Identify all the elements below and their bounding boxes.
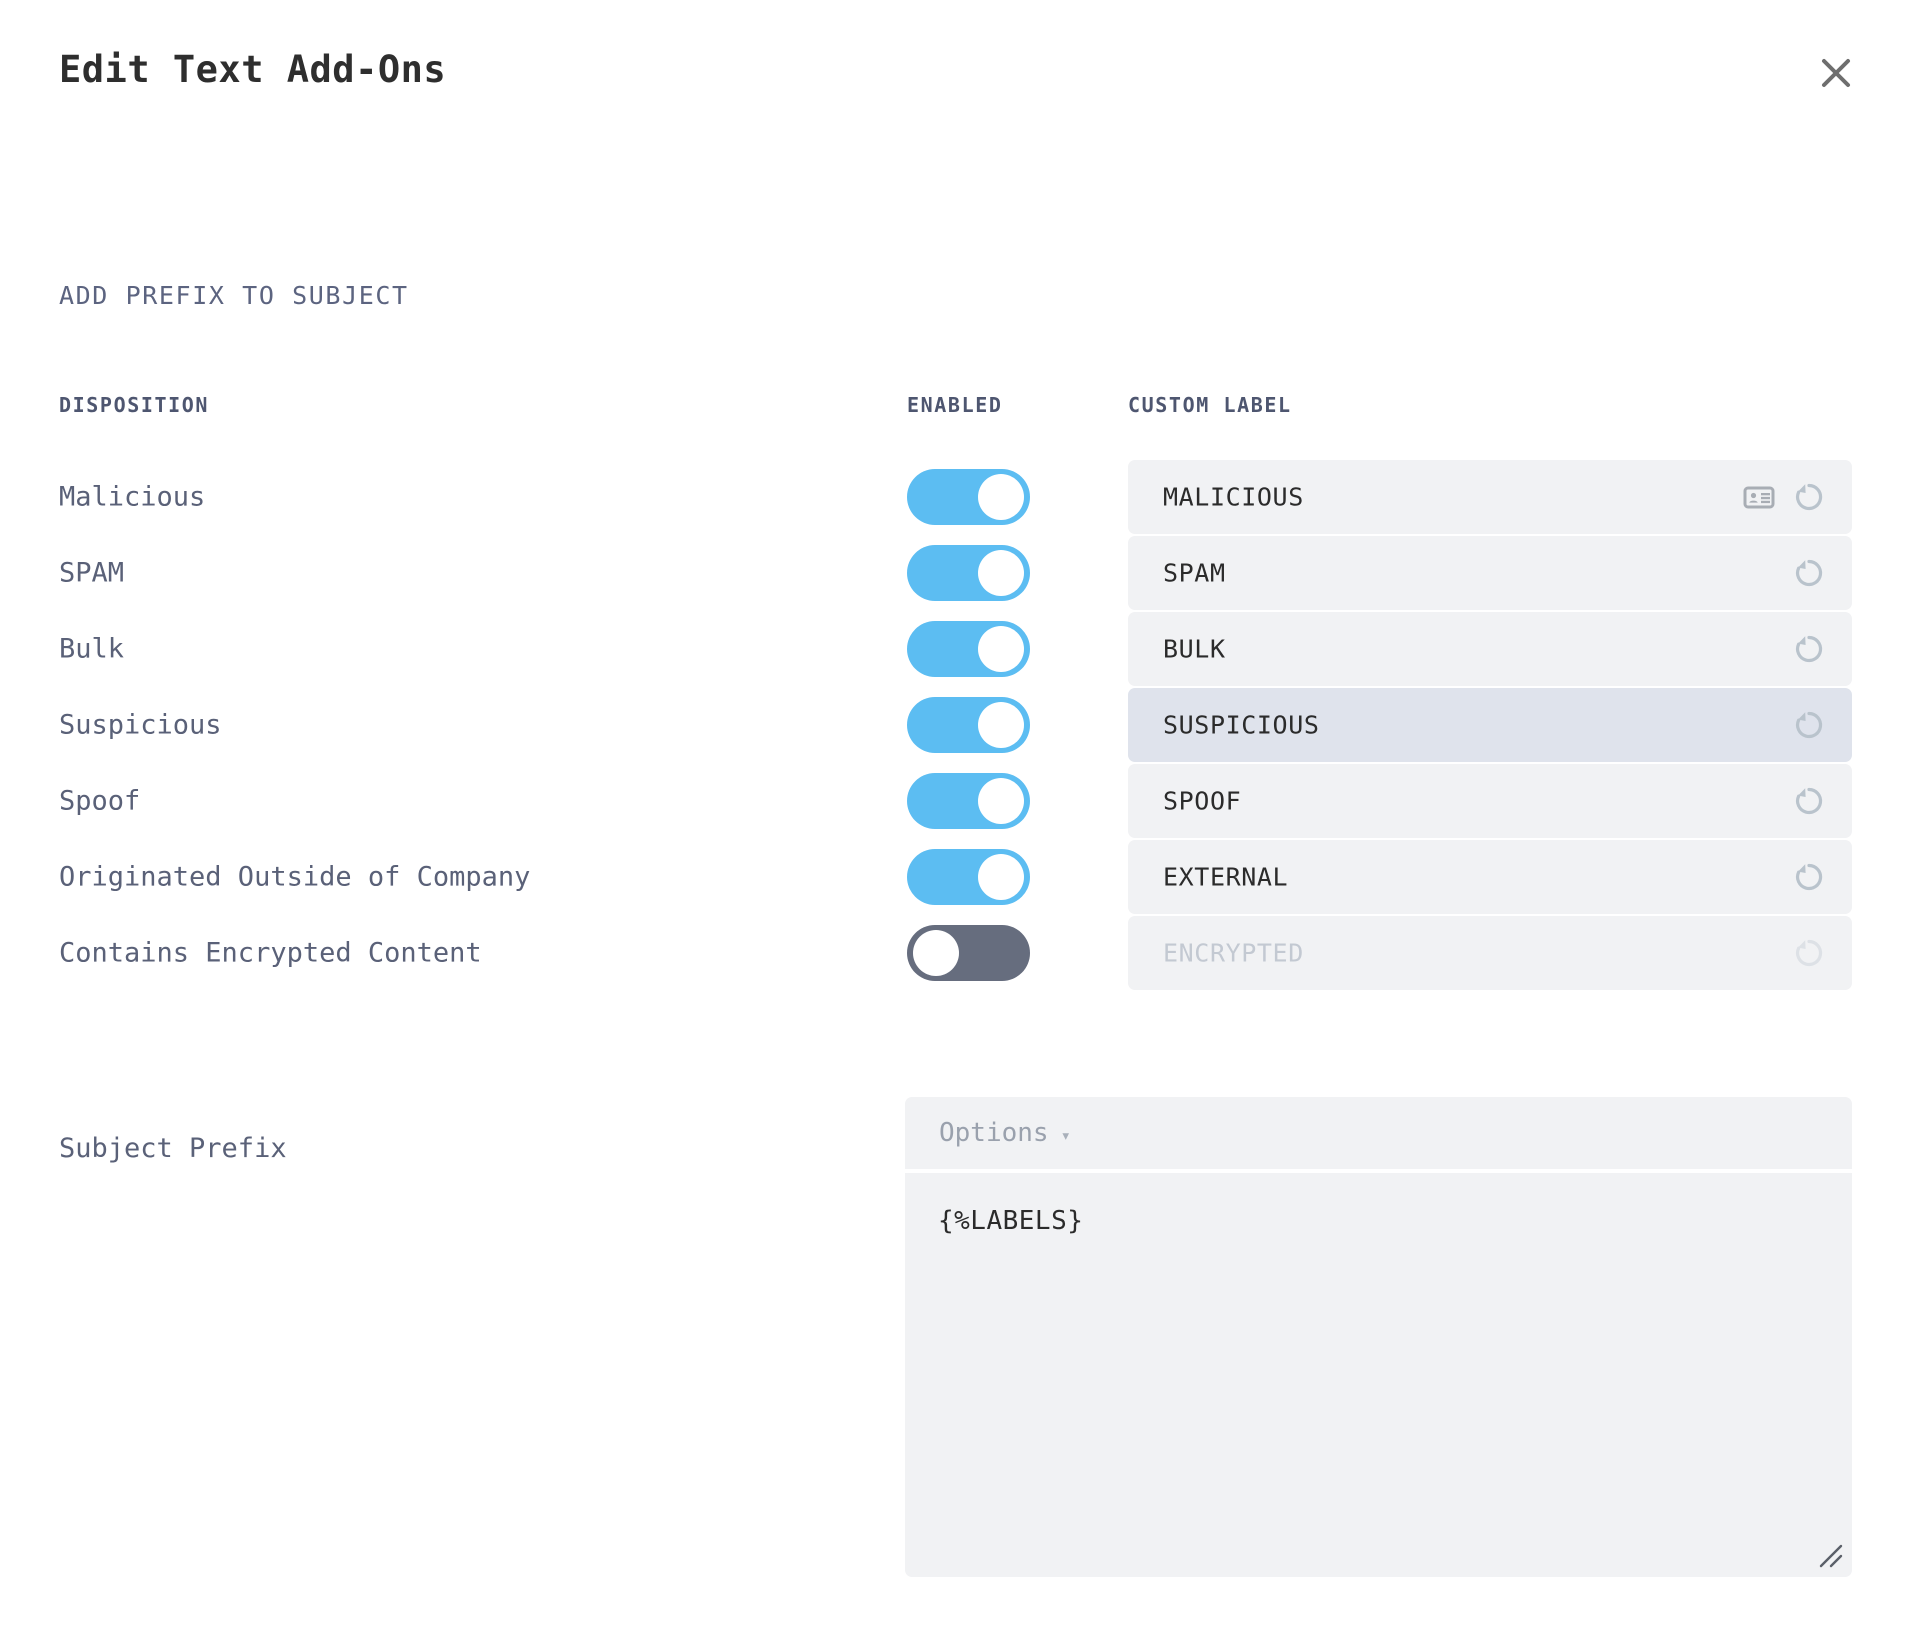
reset-icon[interactable] [1790,554,1828,592]
subject-prefix-textarea-value: {%LABELS} [938,1206,1083,1236]
table-row: Contains Encrypted ContentENCRYPTED [0,907,1908,999]
enabled-toggle[interactable] [907,925,1030,981]
disposition-label: Malicious [59,482,205,513]
disposition-label: Originated Outside of Company [59,862,530,893]
custom-label-input[interactable]: BULK [1128,612,1852,686]
custom-label-value: ENCRYPTED [1163,939,1304,968]
reset-icon[interactable] [1790,630,1828,668]
custom-label-input[interactable]: ENCRYPTED [1128,916,1852,990]
reset-icon[interactable] [1790,858,1828,896]
reset-icon[interactable] [1790,934,1828,972]
custom-label-input[interactable]: EXTERNAL [1128,840,1852,914]
reset-icon[interactable] [1790,706,1828,744]
enabled-toggle[interactable] [907,697,1030,753]
field-icon-group [1790,934,1828,972]
reset-icon[interactable] [1790,478,1828,516]
toggle-knob [978,626,1024,672]
custom-label-value: SPOOF [1163,787,1241,816]
subject-prefix-toolbar: Options ▾ [905,1097,1852,1169]
disposition-label: Spoof [59,786,140,817]
field-icon-group [1790,630,1828,668]
field-icon-group [1742,478,1828,516]
custom-label-value: SUSPICIOUS [1163,711,1320,740]
enabled-toggle[interactable] [907,849,1030,905]
options-dropdown[interactable]: Options ▾ [939,1118,1071,1148]
disposition-label: Bulk [59,634,124,665]
id-card-icon[interactable] [1742,480,1776,514]
toggle-knob [978,550,1024,596]
resize-grip-icon[interactable] [1818,1543,1844,1569]
custom-label-input[interactable]: SUSPICIOUS [1128,688,1852,762]
enabled-toggle[interactable] [907,469,1030,525]
subject-prefix-label: Subject Prefix [59,1133,287,1164]
disposition-label: SPAM [59,558,124,589]
disposition-label: Contains Encrypted Content [59,938,482,969]
field-icon-group [1790,782,1828,820]
toggle-knob [913,930,959,976]
field-icon-group [1790,706,1828,744]
field-icon-group [1790,858,1828,896]
custom-label-value: SPAM [1163,559,1226,588]
disposition-label: Suspicious [59,710,222,741]
enabled-toggle[interactable] [907,621,1030,677]
field-icon-group [1790,554,1828,592]
toggle-knob [978,702,1024,748]
chevron-down-icon: ▾ [1061,1128,1071,1145]
options-dropdown-label: Options [939,1118,1049,1148]
subject-prefix-textarea[interactable]: {%LABELS} [905,1173,1852,1577]
custom-label-input[interactable]: SPOOF [1128,764,1852,838]
toggle-knob [978,778,1024,824]
custom-label-input[interactable]: SPAM [1128,536,1852,610]
reset-icon[interactable] [1790,782,1828,820]
custom-label-input[interactable]: MALICIOUS [1128,460,1852,534]
custom-label-value: BULK [1163,635,1226,664]
enabled-toggle[interactable] [907,773,1030,829]
enabled-toggle[interactable] [907,545,1030,601]
toggle-knob [978,474,1024,520]
custom-label-value: EXTERNAL [1163,863,1288,892]
custom-label-value: MALICIOUS [1163,483,1304,512]
toggle-knob [978,854,1024,900]
